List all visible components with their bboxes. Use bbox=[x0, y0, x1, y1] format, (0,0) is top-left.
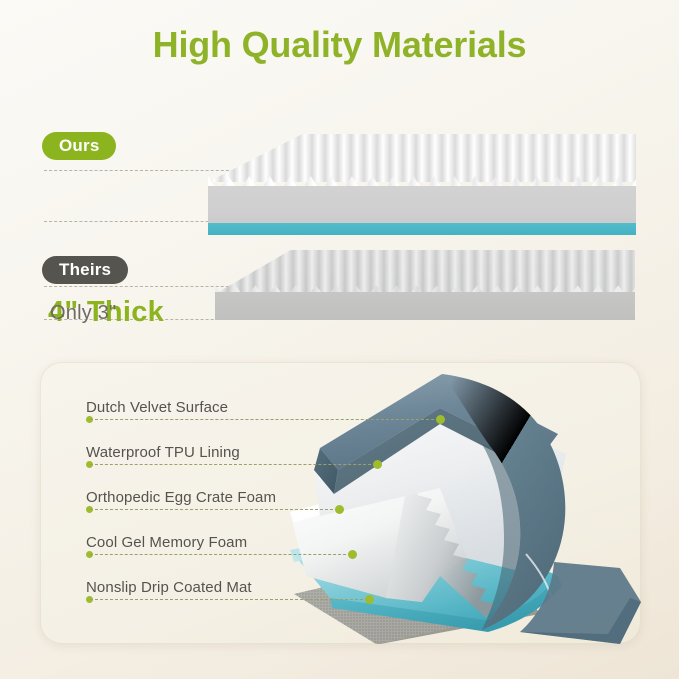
leader-dot-end-icon bbox=[365, 595, 374, 604]
ours-gel-layer bbox=[208, 223, 636, 235]
materials-panel: Dutch Velvet Surface Waterproof TPU Lini… bbox=[40, 362, 641, 644]
leader-dot-end-icon bbox=[373, 460, 382, 469]
layered-construction-illustration bbox=[290, 362, 641, 644]
feature-label: Cool Gel Memory Foam bbox=[86, 534, 247, 551]
ours-badge: Ours bbox=[42, 132, 116, 160]
theirs-foam-body bbox=[215, 292, 635, 320]
thickness-comparison: Ours 4" Thick Theirs Only 3" bbox=[0, 120, 679, 345]
leader-line bbox=[90, 554, 351, 555]
ours-mattress-illustration bbox=[208, 134, 636, 240]
feature-label: Waterproof TPU Lining bbox=[86, 444, 240, 461]
leader-dot-end-icon bbox=[348, 550, 357, 559]
theirs-thickness-label: Only 3" bbox=[50, 302, 116, 325]
leader-line bbox=[90, 599, 368, 600]
feature-label: Nonslip Drip Coated Mat bbox=[86, 579, 252, 596]
feature-label: Orthopedic Egg Crate Foam bbox=[86, 489, 276, 506]
page-title: High Quality Materials bbox=[0, 24, 679, 66]
ours-foam-body bbox=[208, 186, 636, 224]
leader-line bbox=[90, 419, 439, 420]
leader-dot-end-icon bbox=[335, 505, 344, 514]
leader-line bbox=[90, 464, 376, 465]
feature-label: Dutch Velvet Surface bbox=[86, 399, 228, 416]
theirs-mattress-illustration bbox=[215, 250, 635, 322]
theirs-badge: Theirs bbox=[42, 256, 128, 284]
leader-dot-end-icon bbox=[436, 415, 445, 424]
theirs-egg-crate-deck bbox=[215, 250, 635, 294]
ours-egg-crate-deck bbox=[208, 134, 636, 182]
leader-line bbox=[90, 509, 338, 510]
